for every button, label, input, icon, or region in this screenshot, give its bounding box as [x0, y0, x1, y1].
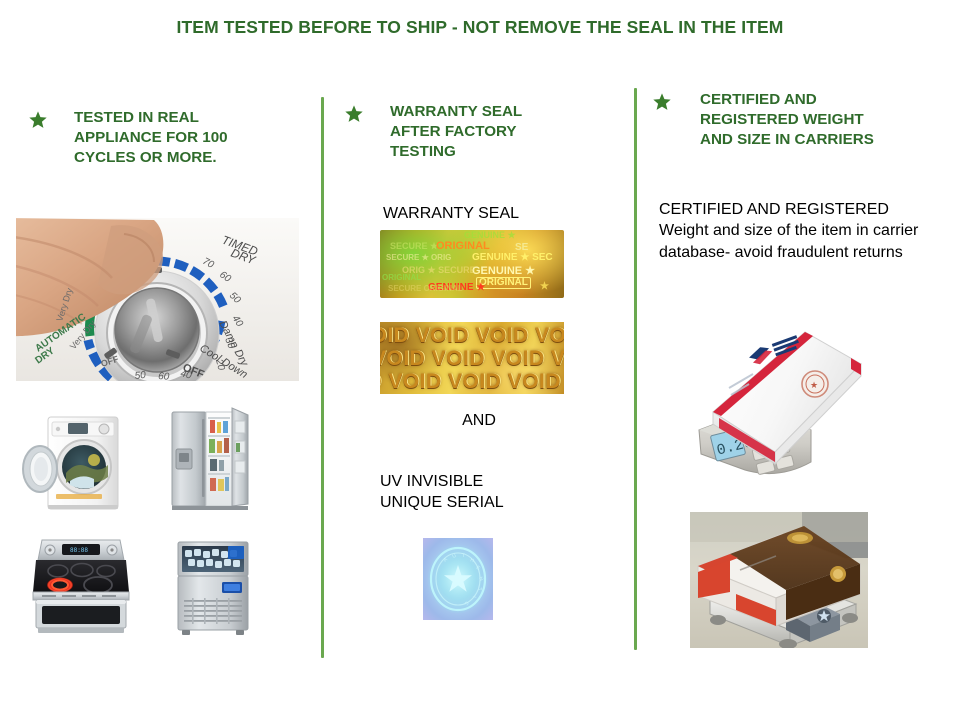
column-1-header: TESTED IN REAL APPLIANCE FOR 100 CYCLES … [28, 108, 298, 169]
refrigerator-thumb [168, 405, 252, 513]
column-3-header-text: CERTIFIED AND REGISTERED WEIGHT AND SIZE… [700, 90, 874, 151]
column-2-header: WARRANTY SEAL AFTER FACTORY TESTING [344, 102, 619, 163]
warranty-seal-label: WARRANTY SEAL [383, 203, 519, 224]
svg-text:50: 50 [134, 370, 147, 381]
svg-text:T: T [462, 553, 466, 559]
hologram-seal-image: GENUINE ★ SECURE ★ ORIGINAL SE SECURE ★ … [380, 230, 564, 298]
star-icon [28, 110, 48, 130]
void-tape-image: VOID VOID VOID VO D VOID VOID VOID V ID … [380, 322, 564, 394]
column-2-header-text: WARRANTY SEAL AFTER FACTORY TESTING [390, 102, 522, 163]
dryer-dial-photo: 70 60 50 40 30 20 50 60 40 TIMED DRY Dam… [16, 218, 299, 381]
column-1-header-text: TESTED IN REAL APPLIANCE FOR 100 CYCLES … [74, 108, 228, 169]
svg-text:★: ★ [810, 380, 818, 390]
electric-range-thumb: 88:88 [30, 530, 132, 636]
washing-machine-thumb [22, 405, 122, 513]
and-label: AND [324, 410, 634, 431]
svg-text:88:88: 88:88 [70, 547, 88, 554]
platform-scale-with-box-photo [690, 512, 868, 648]
postal-scale-with-box-photo: 0.26 [683, 312, 875, 487]
column-3-header: CERTIFIED AND REGISTERED WEIGHT AND SIZE… [652, 90, 952, 151]
certified-body-text: CERTIFIED AND REGISTERED Weight and size… [659, 199, 919, 263]
star-icon [344, 104, 364, 124]
uv-invisible-label: UV INVISIBLE UNIQUE SERIAL [380, 471, 504, 514]
ice-maker-thumb [172, 528, 256, 638]
star-icon [652, 92, 672, 112]
svg-text:60: 60 [158, 371, 170, 381]
uv-invisible-seal-image: A U T H E N T I C [423, 538, 493, 620]
column-tested-in-real-appliance: TESTED IN REAL APPLIANCE FOR 100 CYCLES … [0, 0, 321, 720]
